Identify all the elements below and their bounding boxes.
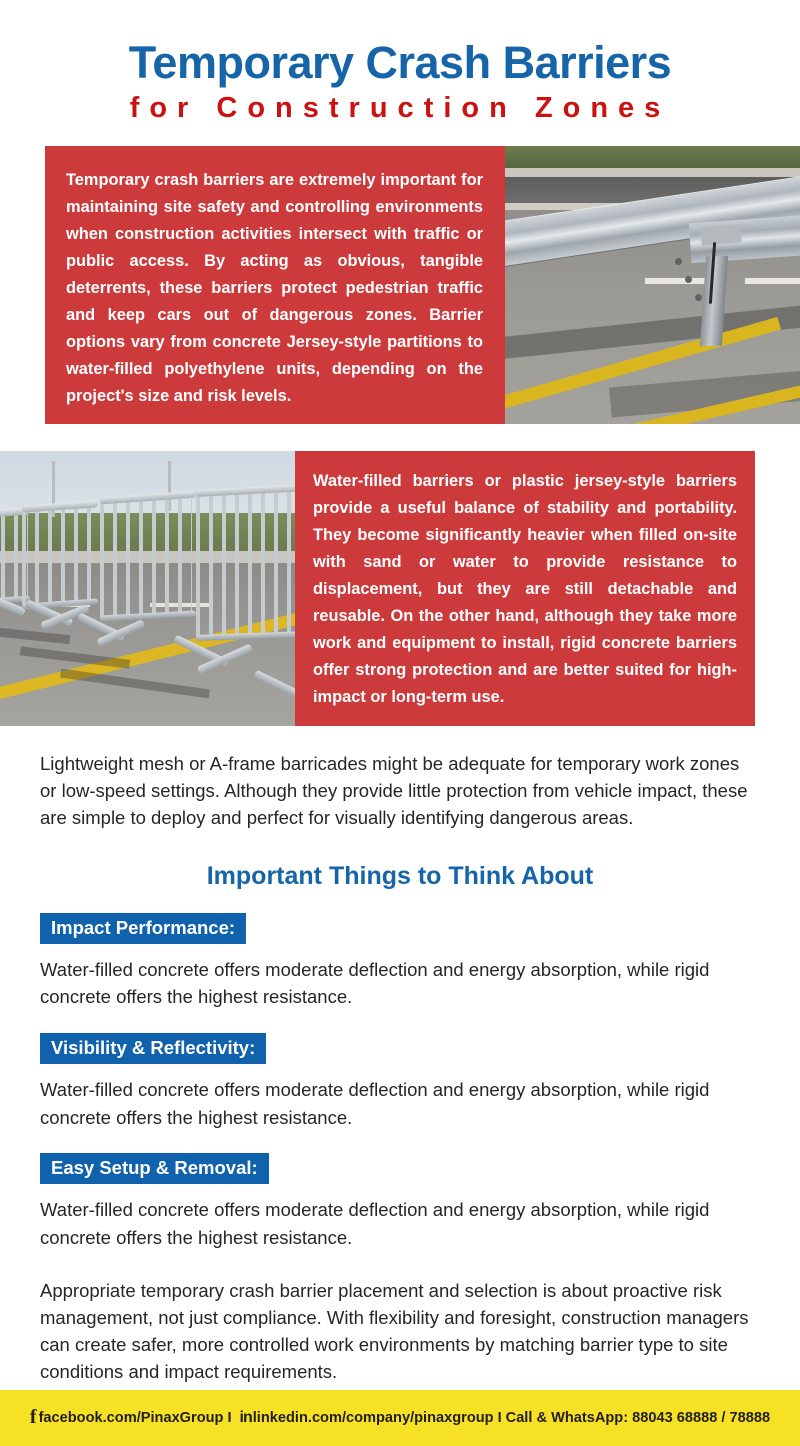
guardrail-bracket bbox=[700, 224, 741, 245]
contact-info[interactable]: Call & WhatsApp: 88043 68888 / 78888 bbox=[506, 1410, 770, 1426]
badge-impact-performance: Impact Performance: bbox=[40, 913, 246, 945]
consideration-text: Water-filled concrete offers moderate de… bbox=[40, 956, 760, 1010]
section-one-red-panel: Temporary crash barriers are extremely i… bbox=[45, 146, 505, 424]
barricade-panel bbox=[100, 499, 192, 617]
linkedin-link[interactable]: linkedin.com/company/pinaxgroup bbox=[253, 1410, 494, 1426]
footer-separator: I bbox=[498, 1410, 502, 1426]
section-one-text: Temporary crash barriers are extremely i… bbox=[66, 167, 483, 410]
intro-paragraph: Lightweight mesh or A-frame barricades m… bbox=[40, 750, 760, 832]
infographic-page: Temporary Crash Barriers for Constructio… bbox=[0, 0, 800, 1446]
linkedin-in-icon[interactable]: in bbox=[240, 1410, 252, 1426]
page-header: Temporary Crash Barriers for Constructio… bbox=[0, 0, 800, 123]
far-shoulder bbox=[505, 168, 800, 177]
lane-dash bbox=[745, 278, 800, 284]
facebook-link[interactable]: facebook.com/PinaxGroup bbox=[39, 1410, 224, 1426]
section-two: Water-filled barriers or plastic jersey-… bbox=[0, 451, 800, 726]
section-two-text: Water-filled barriers or plastic jersey-… bbox=[313, 468, 737, 711]
barricade-panel bbox=[22, 507, 94, 605]
considerations-heading: Important Things to Think About bbox=[40, 862, 760, 891]
guardrail-photo bbox=[505, 146, 800, 424]
consideration-item: Impact Performance: Water-filled concret… bbox=[40, 891, 760, 1011]
bolt bbox=[685, 276, 692, 283]
badge-easy-setup-removal: Easy Setup & Removal: bbox=[40, 1153, 269, 1185]
bolt bbox=[695, 294, 702, 301]
facebook-f-icon[interactable]: f bbox=[30, 1407, 37, 1429]
barricade-panel bbox=[196, 491, 300, 637]
section-two-red-panel: Water-filled barriers or plastic jersey-… bbox=[295, 451, 755, 726]
grass-strip bbox=[505, 146, 800, 168]
consideration-item: Easy Setup & Removal: Water-filled concr… bbox=[40, 1131, 760, 1251]
closing-paragraph: Appropriate temporary crash barrier plac… bbox=[40, 1277, 760, 1386]
consideration-item: Visibility & Reflectivity: Water-filled … bbox=[40, 1011, 760, 1131]
barricades-photo bbox=[0, 451, 300, 726]
page-title: Temporary Crash Barriers bbox=[0, 40, 800, 85]
body-content: Lightweight mesh or A-frame barricades m… bbox=[0, 750, 800, 1386]
footer-separator: I bbox=[227, 1410, 231, 1426]
footer-bar: f facebook.com/PinaxGroup I in linkedin.… bbox=[0, 1390, 800, 1446]
consideration-text: Water-filled concrete offers moderate de… bbox=[40, 1076, 760, 1130]
badge-visibility-reflectivity: Visibility & Reflectivity: bbox=[40, 1033, 266, 1065]
section-one: Temporary crash barriers are extremely i… bbox=[0, 146, 800, 424]
page-subtitle: for Construction Zones bbox=[0, 94, 800, 123]
consideration-text: Water-filled concrete offers moderate de… bbox=[40, 1196, 760, 1250]
bolt bbox=[675, 258, 682, 265]
